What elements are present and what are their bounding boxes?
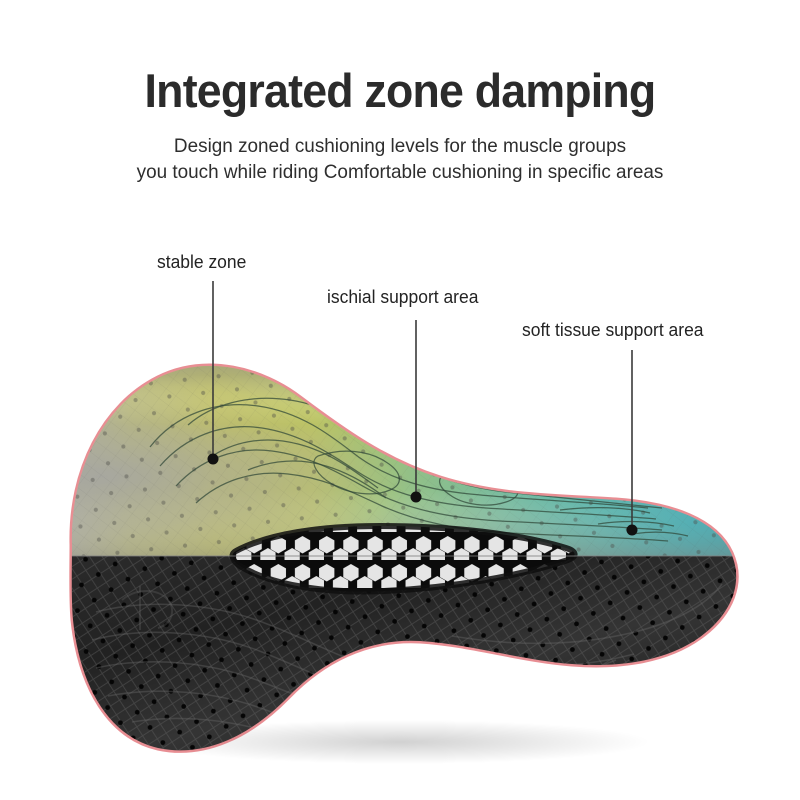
callout-label-soft-tissue-support-area: soft tissue support area: [522, 320, 703, 341]
saddle-svg: [0, 0, 800, 800]
saddle-body: [60, 340, 760, 780]
infographic-poster: Integrated zone damping Design zoned cus…: [0, 0, 800, 800]
callout-label-ischial-support-area: ischial support area: [327, 287, 478, 308]
callout-label-stable-zone: stable zone: [157, 252, 246, 273]
product-illustration: [0, 0, 800, 800]
leader-dot-icon: [627, 525, 638, 536]
leader-dot-icon: [411, 492, 422, 503]
leader-dot-icon: [208, 454, 219, 465]
